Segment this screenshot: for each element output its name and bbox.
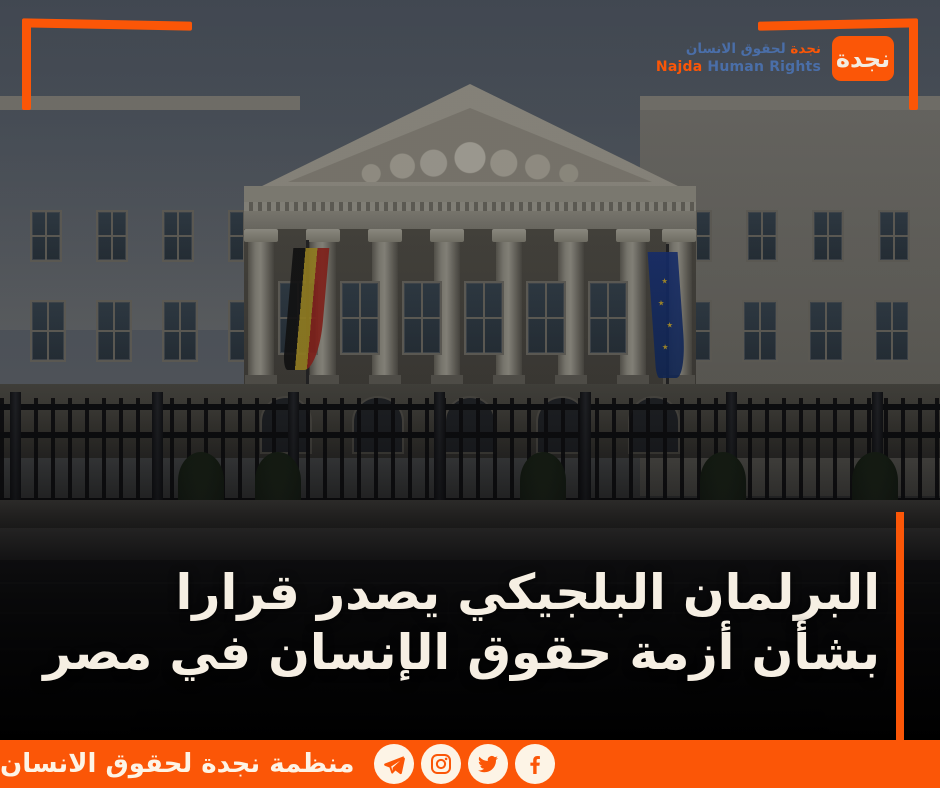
- instagram-icon[interactable]: [421, 744, 461, 784]
- logo-arabic-rest: لحقوق الانسان: [686, 41, 791, 57]
- logo-arabic-line: نجدة لحقوق الانسان: [656, 41, 821, 57]
- logo-arabic-highlight: نجدة: [790, 41, 821, 57]
- logo-wordmark: نجدة لحقوق الانسان Najda Human Rights: [656, 41, 821, 77]
- vertical-accent-bar: [896, 512, 904, 744]
- telegram-icon[interactable]: [374, 744, 414, 784]
- news-card: نجدة نجدة لحقوق الانسان Najda Human Righ…: [0, 0, 940, 788]
- brand-logo[interactable]: نجدة نجدة لحقوق الانسان Najda Human Righ…: [656, 36, 894, 81]
- corner-bracket-top-left: [22, 20, 192, 110]
- logo-mark: نجدة: [832, 36, 894, 81]
- social-links: [374, 744, 555, 784]
- headline-line-2: بشأن أزمة حقوق الإنسان في مصر: [70, 623, 880, 683]
- bottom-bar: منظمة نجدة لحقوق الانسان: [0, 740, 940, 788]
- headline-line-1: البرلمان البلجيكي يصدر قرارا: [70, 563, 880, 623]
- facebook-icon[interactable]: [515, 744, 555, 784]
- logo-english-line: Najda Human Rights: [656, 59, 821, 76]
- organization-name: منظمة نجدة لحقوق الانسان: [0, 749, 354, 779]
- headline: البرلمان البلجيكي يصدر قرارا بشأن أزمة ح…: [70, 563, 880, 683]
- logo-mark-text: نجدة: [836, 47, 890, 71]
- logo-english-rest: Human Rights: [702, 59, 821, 75]
- logo-english-highlight: Najda: [656, 59, 702, 75]
- twitter-icon[interactable]: [468, 744, 508, 784]
